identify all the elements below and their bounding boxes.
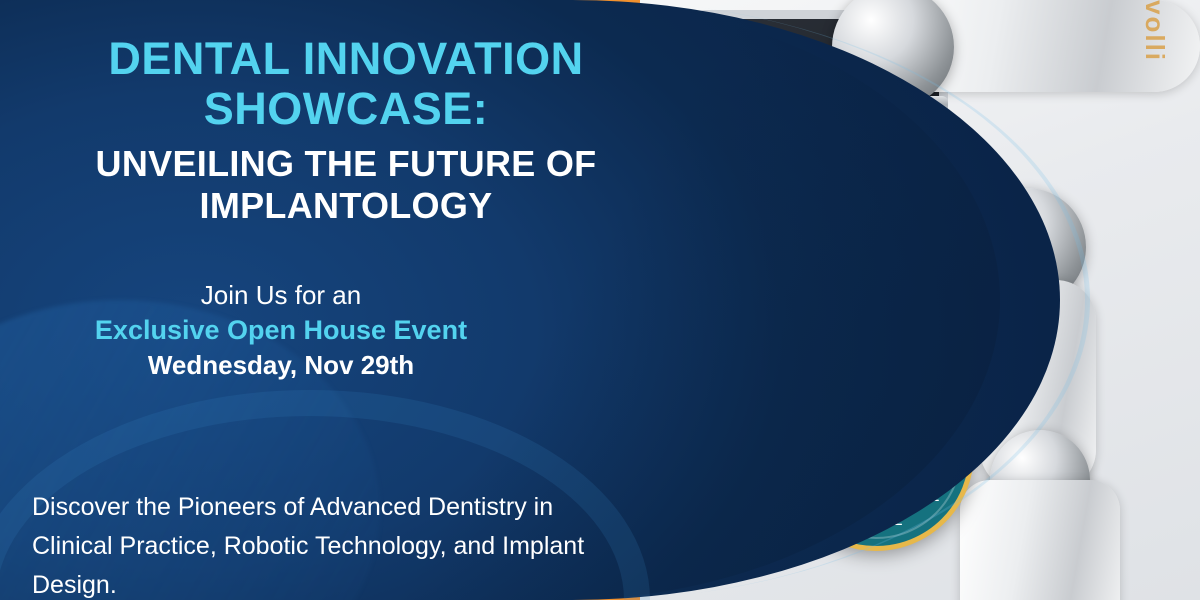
robot-brand-label: volli xyxy=(1139,0,1170,62)
robot-segment-hand xyxy=(960,480,1120,600)
invite-date: Wednesday, Nov 29th xyxy=(32,350,530,381)
invite-block: Join Us for an Exclusive Open House Even… xyxy=(32,280,660,381)
page-subtitle: UNVEILING THE FUTURE OF IMPLANTOLOGY xyxy=(32,143,660,228)
description-line-2: Clinical Practice, Robotic Technology, a… xyxy=(32,527,672,600)
page-title: DENTAL INNOVATION SHOWCASE: xyxy=(32,34,660,135)
description-line-1: Discover the Pioneers of Advanced Dentis… xyxy=(32,488,672,527)
description-block: Discover the Pioneers of Advanced Dentis… xyxy=(32,488,672,600)
invite-line-2: Exclusive Open House Event xyxy=(32,315,530,346)
event-banner: volli NEW BONE | TISSUE LEVEL DENTAL INN… xyxy=(0,0,1200,600)
invite-line-1: Join Us for an xyxy=(32,280,530,311)
